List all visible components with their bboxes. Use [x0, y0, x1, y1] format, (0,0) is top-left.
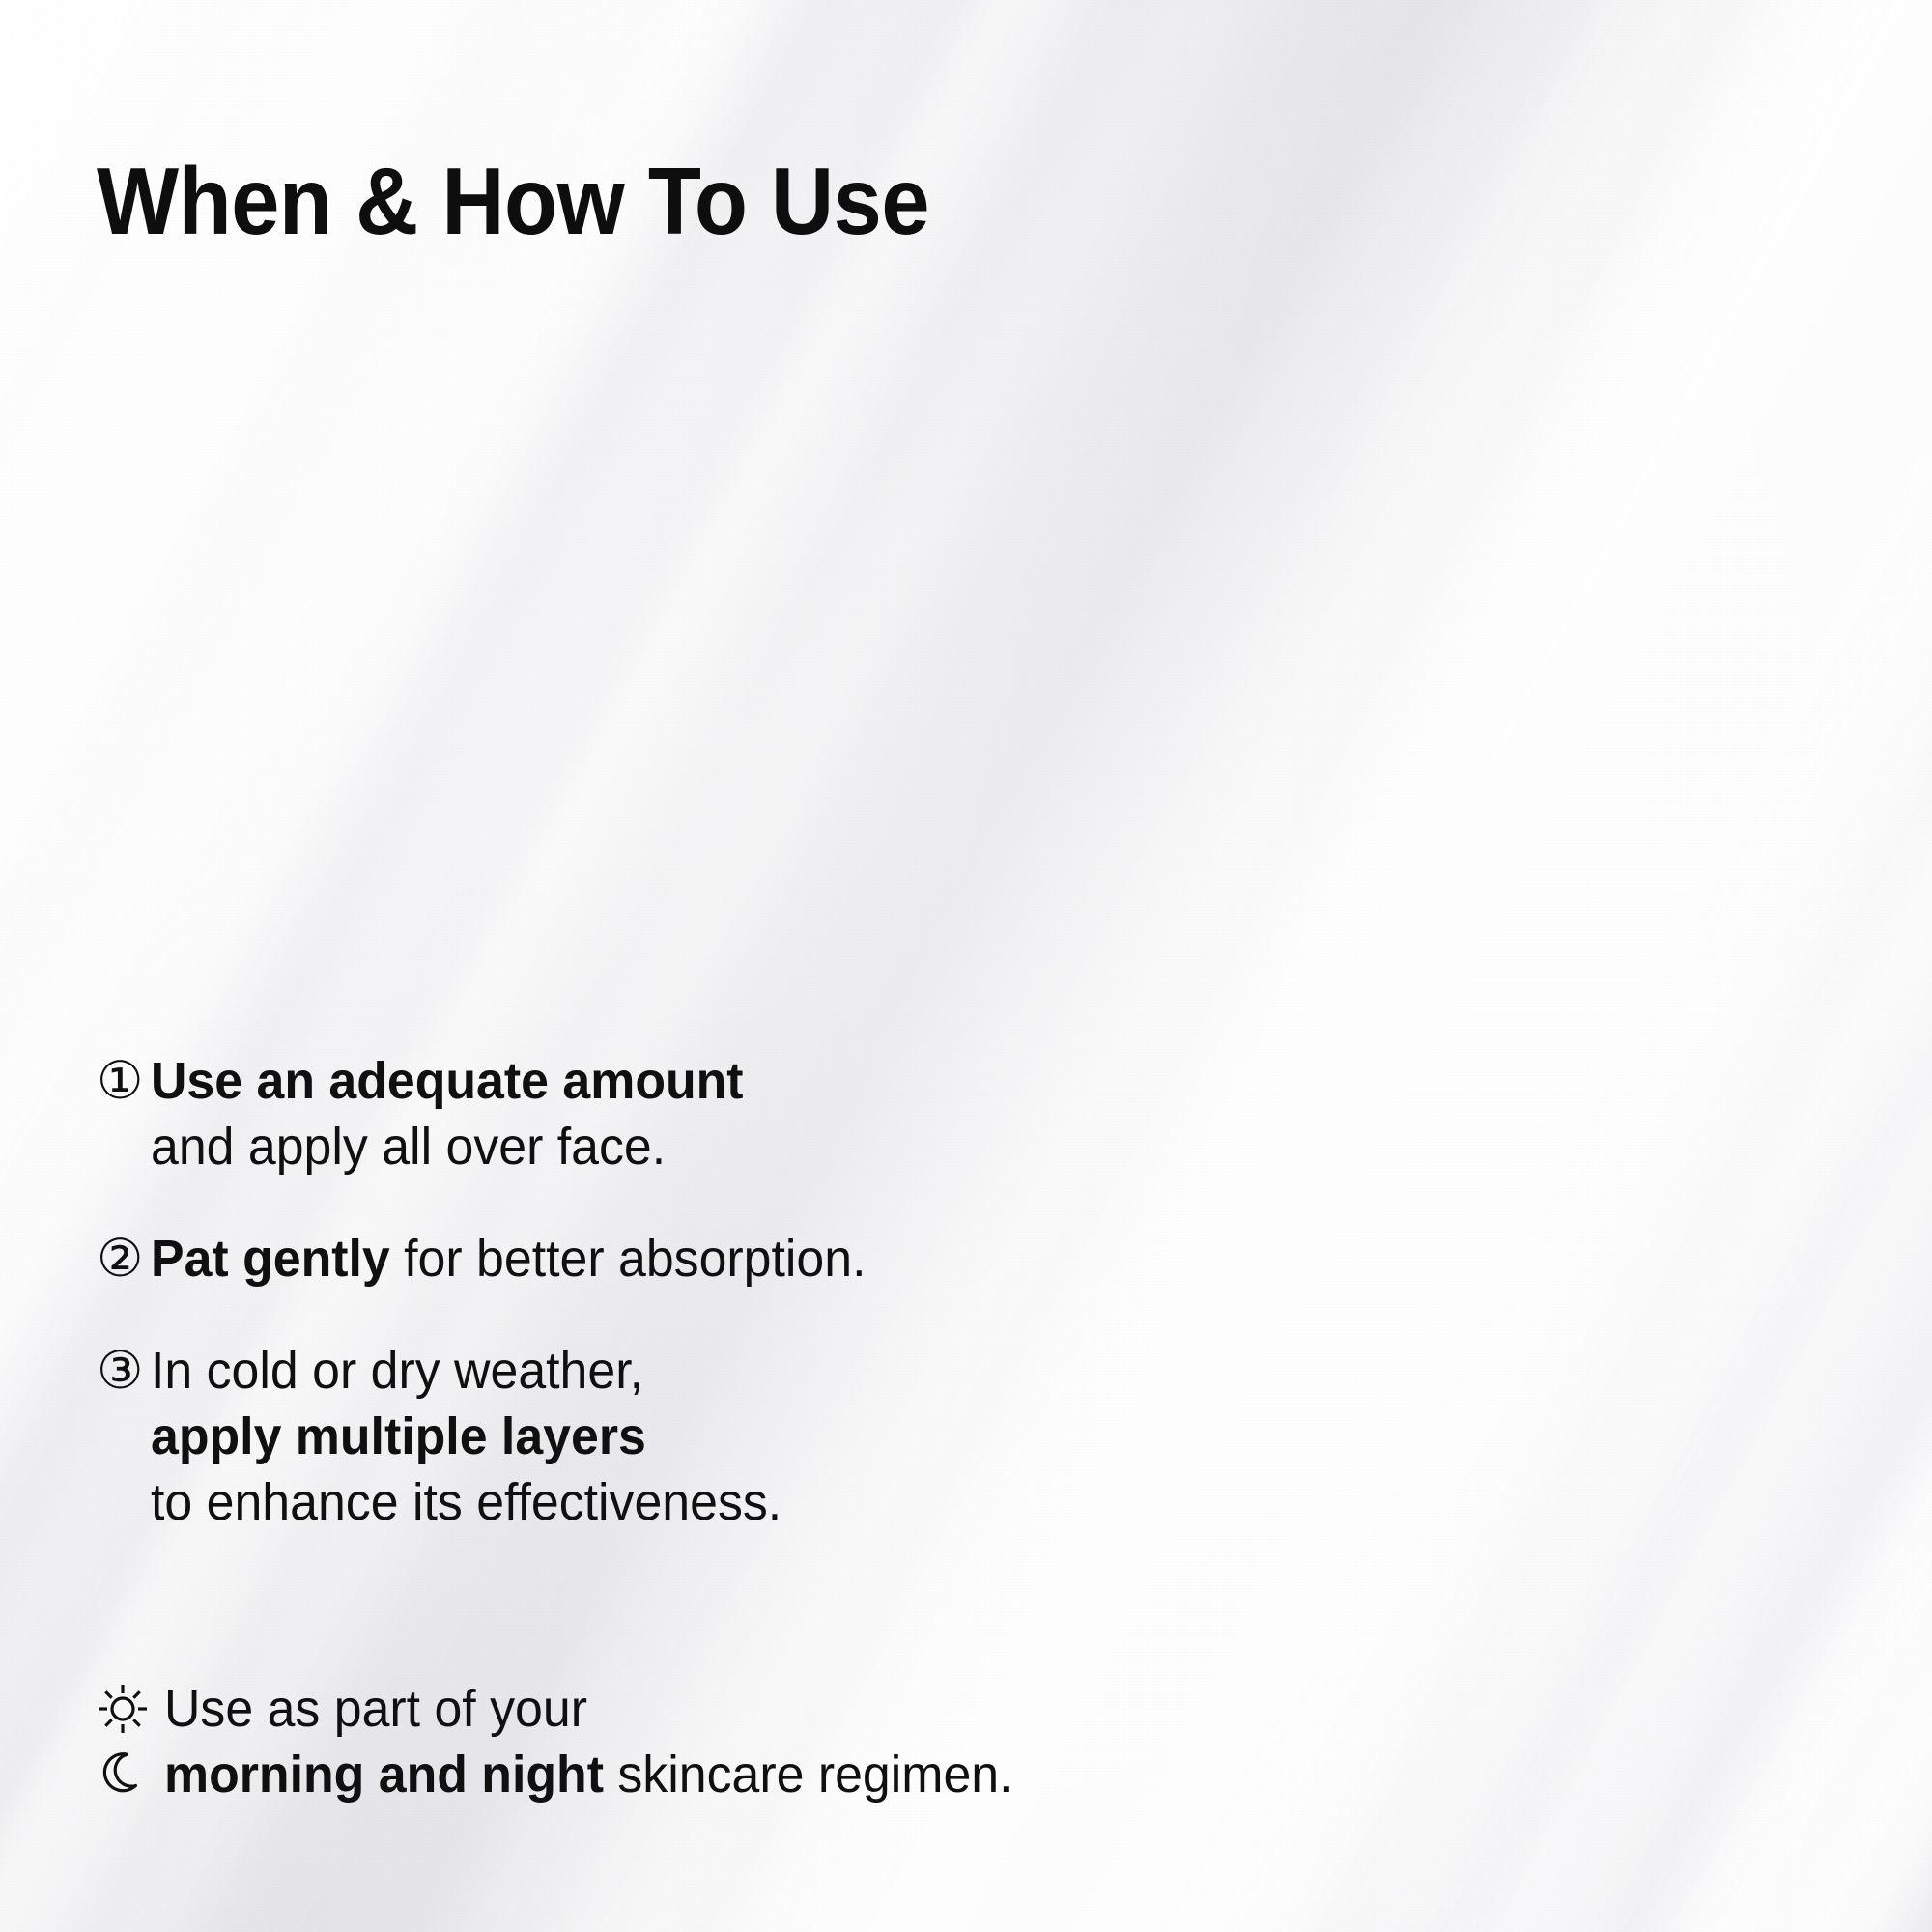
usage-step-1-line-2: and apply all over face.: [151, 1114, 1304, 1179]
usage-step-2-emphasis: Pat gently: [151, 1230, 390, 1288]
usage-step-3: ③ In cold or dry weather, apply multiple…: [97, 1338, 1352, 1535]
regimen-line-2-rest: skincare regimen.: [604, 1746, 1013, 1804]
regimen-icon-column: [97, 1676, 164, 1807]
usage-steps-list: ① Use an adequate amount and apply all o…: [97, 1048, 1352, 1535]
usage-step-3-text: In cold or dry weather, apply multiple l…: [151, 1338, 1304, 1535]
usage-step-1-line-1: Use an adequate amount: [151, 1048, 1304, 1114]
regimen-text: Use as part of your morning and night sk…: [164, 1676, 1013, 1807]
usage-step-3-line-1: In cold or dry weather,: [151, 1338, 1304, 1404]
regimen-emphasis: morning and night: [164, 1746, 604, 1804]
usage-step-1: ① Use an adequate amount and apply all o…: [97, 1048, 1352, 1179]
usage-step-1-text: Use an adequate amount and apply all ove…: [151, 1048, 1304, 1179]
usage-step-3-line-3: to enhance its effectiveness.: [151, 1469, 1304, 1535]
product-usage-infographic: When & How To Use ① Use an adequate amou…: [0, 0, 1932, 1932]
content-layer: When & How To Use ① Use an adequate amou…: [0, 0, 1932, 1932]
regimen-line-2: morning and night skincare regimen.: [164, 1742, 1013, 1807]
usage-step-2-rest: for better absorption.: [390, 1230, 867, 1288]
sun-icon: [97, 1676, 164, 1742]
moon-icon: [97, 1742, 164, 1807]
usage-step-2-text: Pat gently for better absorption.: [151, 1226, 1304, 1292]
regimen-line-1: Use as part of your: [164, 1676, 1013, 1742]
usage-step-2-line-1: Pat gently for better absorption.: [151, 1226, 1304, 1292]
circled-number-three-icon: ③: [97, 1338, 151, 1404]
page-title: When & How To Use: [97, 151, 929, 253]
regimen-callout: Use as part of your morning and night sk…: [97, 1676, 1048, 1807]
circled-number-two-icon: ②: [97, 1226, 151, 1292]
usage-step-2: ② Pat gently for better absorption.: [97, 1226, 1352, 1292]
circled-number-one-icon: ①: [97, 1048, 151, 1114]
usage-step-3-line-2: apply multiple layers: [151, 1404, 1304, 1469]
